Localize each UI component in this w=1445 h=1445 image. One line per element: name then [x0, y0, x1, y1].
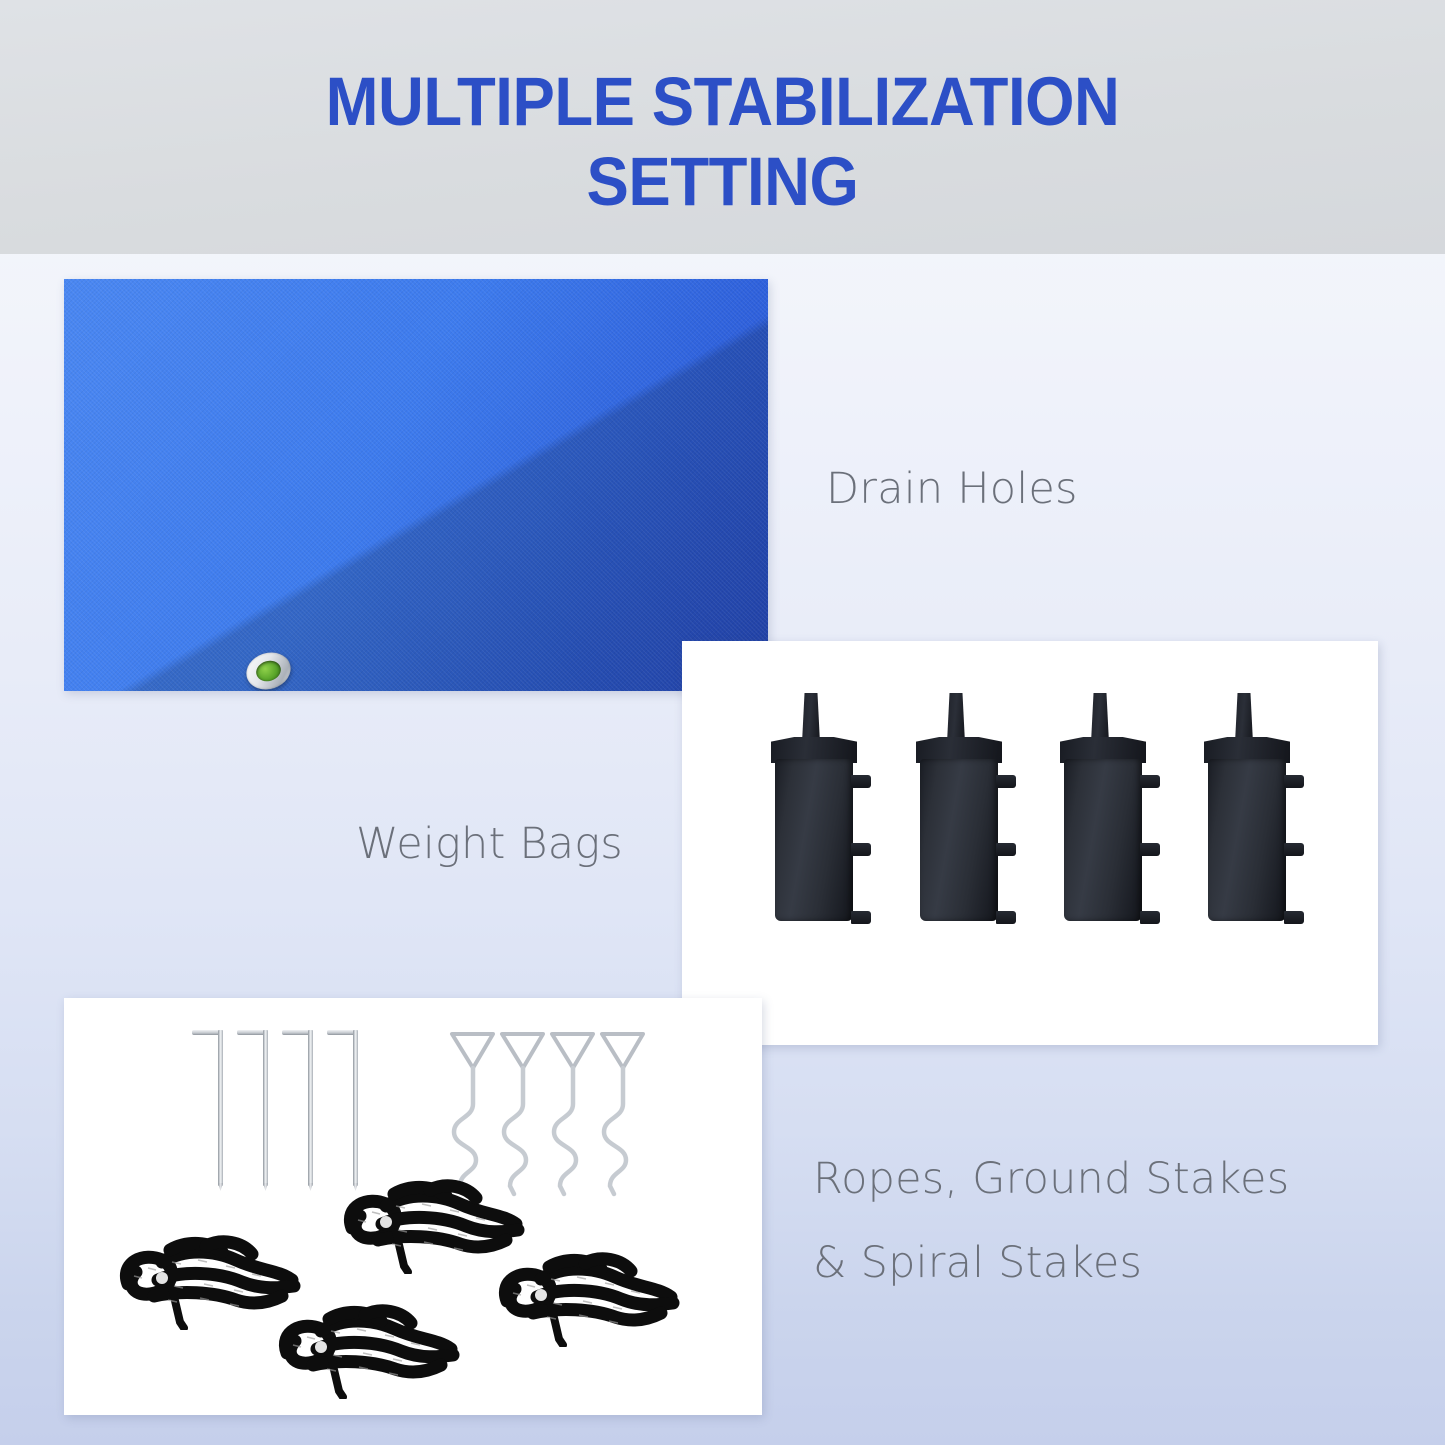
- weight-bag-neck-tab: [947, 693, 965, 743]
- caption-ropes-stakes: Ropes, Ground Stakes & Spiral Stakes: [813, 1137, 1289, 1305]
- photo-card-drain-holes: [64, 279, 768, 691]
- weight-bag-body: [775, 759, 853, 921]
- weight-bag-strap: [851, 843, 871, 856]
- caption-weight-bags: Weight Bags: [356, 814, 623, 874]
- weight-bag-body: [1208, 759, 1286, 921]
- ground-stake-shaft: [353, 1030, 358, 1186]
- ground-stake-shaft: [308, 1030, 313, 1186]
- weight-bag-strap: [996, 911, 1016, 924]
- weight-bag-neck-tab: [1235, 693, 1253, 743]
- weight-bag-body: [920, 759, 998, 921]
- spiral-stake: [596, 1022, 650, 1198]
- ground-stake: [237, 1026, 273, 1186]
- ground-stake: [327, 1026, 363, 1186]
- canopy-fabric-texture: [64, 279, 768, 691]
- weight-bag: [1204, 693, 1290, 921]
- weight-bag-strap: [1284, 843, 1304, 856]
- page-title: MULTIPLE STABILIZATION SETTING: [58, 62, 1387, 222]
- weight-bag: [771, 693, 857, 921]
- weight-bag: [916, 693, 1002, 921]
- weight-bag-strap: [996, 775, 1016, 788]
- weight-bag-neck-tab: [1091, 693, 1109, 743]
- weight-bag-strap: [996, 843, 1016, 856]
- ground-stake: [282, 1026, 318, 1186]
- photo-card-ropes-stakes: [64, 998, 762, 1415]
- weight-bag: [1060, 693, 1146, 921]
- weight-bag-body: [1064, 759, 1142, 921]
- header-band: MULTIPLE STABILIZATION SETTING: [0, 0, 1445, 254]
- ground-stake-shaft: [263, 1030, 268, 1186]
- weight-bag-strap: [1140, 911, 1160, 924]
- ground-stake-shaft: [218, 1030, 223, 1186]
- weight-bag-strap: [1284, 911, 1304, 924]
- weight-bag-strap: [851, 775, 871, 788]
- spiral-stake: [546, 1022, 600, 1198]
- ground-stake: [192, 1026, 228, 1186]
- infographic-canvas: MULTIPLE STABILIZATION SETTING Drain Hol…: [0, 0, 1445, 1445]
- weight-bag-strap: [1140, 775, 1160, 788]
- rope-coil: [489, 1243, 685, 1347]
- weight-bag-neck-tab: [802, 693, 820, 743]
- grommet-hole-interior: [253, 658, 283, 685]
- weight-bag-strap: [851, 911, 871, 924]
- photo-card-weight-bags: [682, 641, 1378, 1045]
- rope-coil: [269, 1295, 465, 1399]
- weight-bag-strap: [1140, 843, 1160, 856]
- caption-drain-holes: Drain Holes: [826, 459, 1078, 519]
- weight-bag-strap: [1284, 775, 1304, 788]
